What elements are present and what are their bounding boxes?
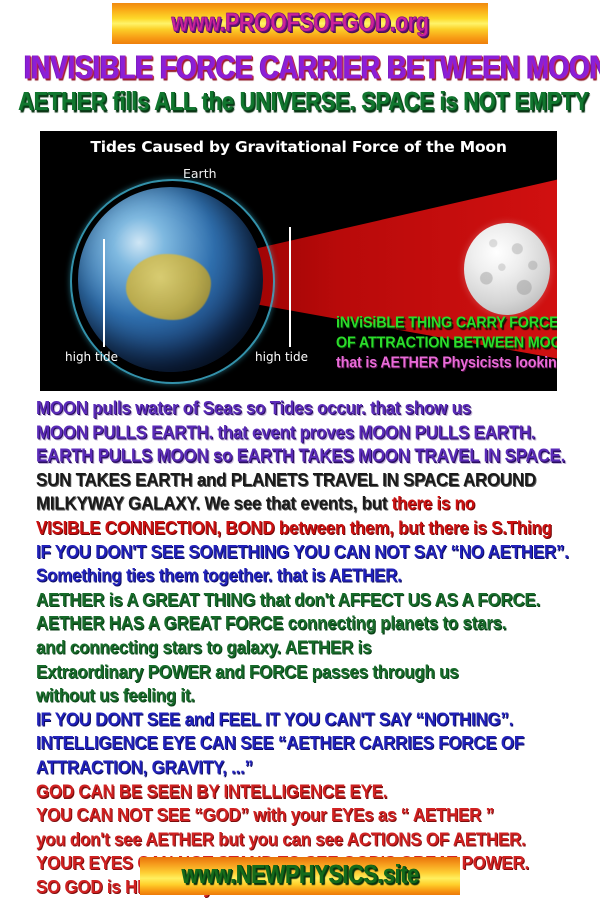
diagram-title: Tides Caused by Gravitational Force of t… [40,138,557,156]
body-line-prefix: MILKYWAY GALAXY. We see that events, but [36,493,392,514]
footer-banner: www.NEWPHYSICS.site [140,857,460,895]
body-line: AETHER is A GREAT THING that don't AFFEC… [36,588,583,612]
header-banner-url[interactable]: www.PROOFSOFGOD.org [125,7,475,37]
page-title: INVISIBLE FORCE CARRIER BETWEEN MOON and… [24,50,576,88]
body-line: ATTRACTION, GRAVITY, ...” [36,755,583,779]
footer-banner-url[interactable]: www.NEWPHYSICS.site [150,859,451,889]
body-line: you don't see AETHER but you can see ACT… [36,827,583,851]
body-line: without us feeling it. [36,683,583,707]
body-line: and connecting stars to galaxy. AETHER i… [36,635,583,659]
body-line: IF YOU DON'T SEE SOMETHING YOU CAN NOT S… [36,540,583,564]
body-line: AETHER HAS A GREAT FORCE connecting plan… [36,612,583,636]
body-line: MOON PULLS EARTH. that event proves MOON… [36,420,583,444]
tides-diagram-panel: Tides Caused by Gravitational Force of t… [40,131,557,391]
high-tide-marker-right [289,227,291,347]
earth-label: Earth [183,166,217,181]
body-line: Extraordinary POWER and FORCE passes thr… [36,659,583,683]
high-tide-label-right: high tide [255,350,308,364]
aether-overlay-text: iNViSiBLE THING CARRY FORCE OF ATTRACTIO… [336,313,557,373]
aether-overlay-line-3: that is AETHER Physicists looking for.. [336,354,557,372]
body-line: YOU CAN NOT SEE “GOD” with your EYEs as … [36,803,583,827]
high-tide-marker-left [103,239,105,347]
header-banner: www.PROOFSOFGOD.org [112,3,488,44]
body-line: Something ties them together. that is AE… [36,564,583,588]
body-line: VISIBLE CONNECTION, BOND between them, b… [36,516,583,540]
aether-overlay-line-1: iNViSiBLE THING CARRY FORCE [336,314,557,332]
page-subtitle: AETHER fills ALL the UNIVERSE. SPACE is … [18,86,582,117]
body-line: EARTH PULLS MOON so EARTH TAKES MOON TRA… [36,444,583,468]
body-line-emphasis: there is no [392,493,475,514]
body-line: GOD CAN BE SEEN BY INTELLIGENCE EYE. [36,779,583,803]
body-line: IF YOU DONT SEE and FEEL IT YOU CAN'T SA… [36,707,583,731]
moon-icon [464,223,550,315]
body-line: INTELLIGENCE EYE CAN SEE “AETHER CARRIES… [36,731,583,755]
body-line: SUN TAKES EARTH and PLANETS TRAVEL IN SP… [36,468,583,492]
high-tide-label-left: high tide [65,350,118,364]
body-text-block: MOON pulls water of Seas so Tides occur.… [36,396,583,899]
body-line: MOON pulls water of Seas so Tides occur.… [36,396,583,420]
body-line: MILKYWAY GALAXY. We see that events, but… [36,492,583,516]
aether-overlay-line-2: OF ATTRACTION BETWEEN MOON - EARTH [336,334,557,352]
